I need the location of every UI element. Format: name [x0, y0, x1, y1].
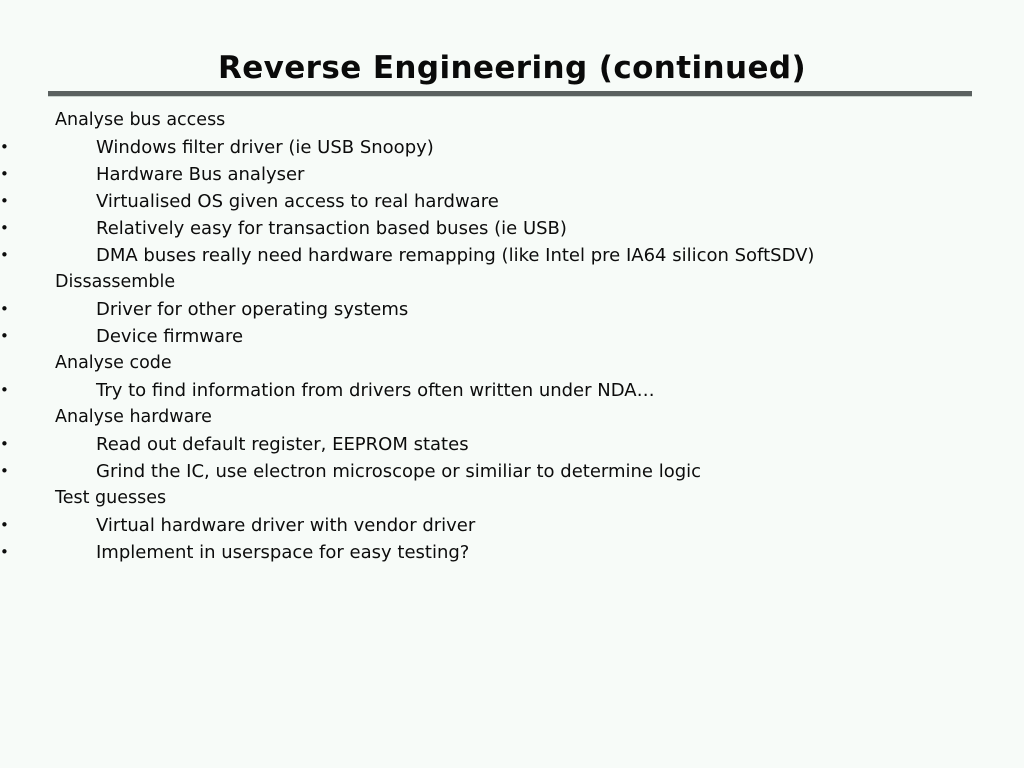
outline-bullet-label: Virtual hardware driver with vendor driv…	[84, 512, 475, 539]
outline-bullet: •Read out default register, EEPROM state…	[0, 431, 1024, 458]
page-title: Reverse Engineering (continued)	[0, 50, 1024, 86]
outline-bullet: •Driver for other operating systems	[0, 296, 1024, 323]
outline-bullet-label: Try to find information from drivers oft…	[84, 377, 655, 404]
outline-bullet-label: Grind the IC, use electron microscope or…	[84, 458, 701, 485]
title-divider	[48, 91, 972, 96]
outline-bullet-label: Windows filter driver (ie USB Snoopy)	[84, 134, 434, 161]
outline-bullet-label: Implement in userspace for easy testing?	[84, 539, 469, 566]
outline-heading: Analyse code	[0, 350, 1024, 377]
bullet-icon: •	[0, 134, 12, 161]
outline-bullet: •DMA buses really need hardware remappin…	[0, 242, 1024, 269]
outline-bullet: •Virtual hardware driver with vendor dri…	[0, 512, 1024, 539]
bullet-icon: •	[0, 431, 12, 458]
outline-bullet-label: Read out default register, EEPROM states	[84, 431, 469, 458]
outline-bullet-label: Device firmware	[84, 323, 243, 350]
outline-bullet: •Device firmware	[0, 323, 1024, 350]
outline-bullet: •Relatively easy for transaction based b…	[0, 215, 1024, 242]
outline-heading: Test guesses	[0, 485, 1024, 512]
bullet-icon: •	[0, 323, 12, 350]
bullet-icon: •	[0, 539, 12, 566]
outline-heading: Analyse hardware	[0, 404, 1024, 431]
outline-bullet: •Hardware Bus analyser	[0, 161, 1024, 188]
outline-bullet-label: Virtualised OS given access to real hard…	[84, 188, 499, 215]
outline-bullet-label: DMA buses really need hardware remapping…	[84, 242, 814, 269]
outline-bullet: •Try to find information from drivers of…	[0, 377, 1024, 404]
bullet-icon: •	[0, 242, 12, 269]
outline-bullet-label: Driver for other operating systems	[84, 296, 408, 323]
bullet-icon: •	[0, 377, 12, 404]
outline-heading: Dissassemble	[0, 269, 1024, 296]
outline-bullet-label: Hardware Bus analyser	[84, 161, 304, 188]
bullet-icon: •	[0, 458, 12, 485]
outline-bullet-label: Relatively easy for transaction based bu…	[84, 215, 567, 242]
outline-bullet: •Windows filter driver (ie USB Snoopy)	[0, 134, 1024, 161]
bullet-icon: •	[0, 161, 12, 188]
bullet-icon: •	[0, 188, 12, 215]
outline-bullet: •Virtualised OS given access to real har…	[0, 188, 1024, 215]
bullet-icon: •	[0, 215, 12, 242]
outline-bullet: •Grind the IC, use electron microscope o…	[0, 458, 1024, 485]
bullet-icon: •	[0, 512, 12, 539]
bullet-icon: •	[0, 296, 12, 323]
slide-content: Analyse bus access•Windows filter driver…	[0, 107, 1024, 566]
outline-heading: Analyse bus access	[0, 107, 1024, 134]
outline-bullet: •Implement in userspace for easy testing…	[0, 539, 1024, 566]
